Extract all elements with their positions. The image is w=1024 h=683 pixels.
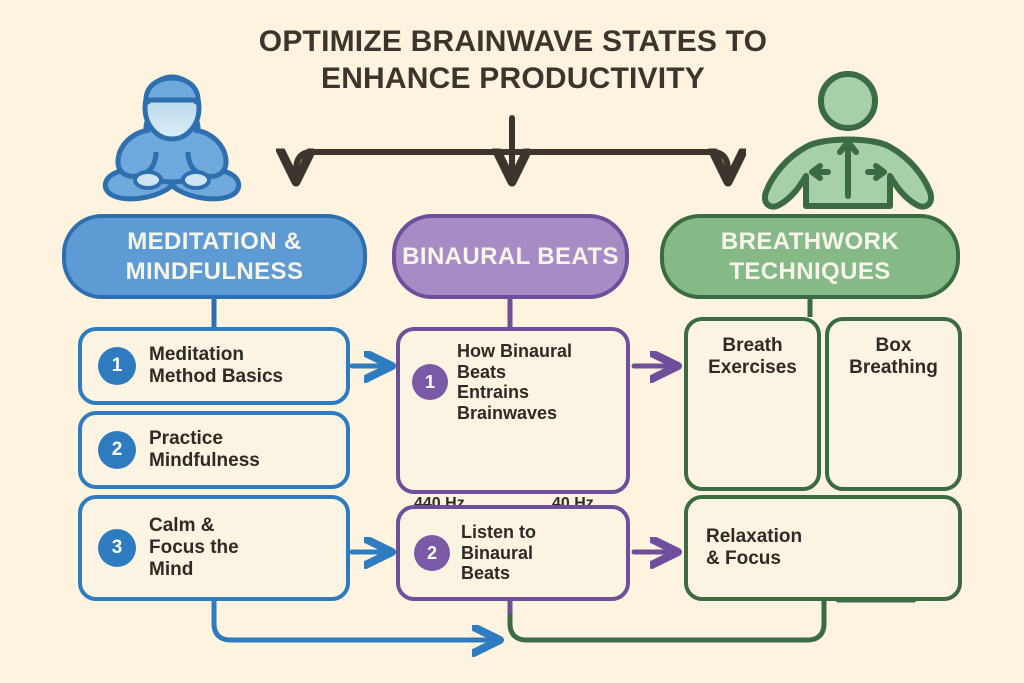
frequency-diagram: 440 Hz 480 Hz 40 Hz 40 Hz [400,423,626,490]
title-line-2: ENHANCE PRODUCTIVITY [188,61,838,98]
card-label: Box Breathing [849,335,938,379]
step-number-badge: 3 [98,529,136,567]
card-label-line-1: How Binaural Beats [457,341,618,382]
title-line-1: OPTIMIZE BRAINWAVE STATES TO [259,25,767,58]
column-header-binaural-label: BINAURAL BEATS [402,242,619,271]
card-label: Meditation Method Basics [149,344,283,388]
card-label-line-2: Exercises [708,357,797,379]
card-label-line-2: & Focus [706,548,802,570]
card-heading-row: 1 How Binaural Beats Entrains Brainwaves [400,331,626,423]
card-calm-focus-mind[interactable]: 3 Calm & Focus the Mind [78,495,350,601]
card-label-line-2: Mindfulness [149,450,260,472]
card-label-line-1: Meditation [149,344,283,366]
card-box-breathing[interactable]: Box Breathing [825,317,962,491]
card-breath-exercises[interactable]: Breath Exercises [684,317,821,491]
card-label-line-2: Entrains Brainwaves [457,382,618,423]
card-label: Breath Exercises [708,335,797,379]
card-meditation-method-basics[interactable]: 1 Meditation Method Basics [78,327,350,405]
step-number-badge: 2 [98,431,136,469]
step-number-badge: 2 [414,535,450,571]
column-header-breathwork[interactable]: BREATHWORK TECHNIQUES [660,214,960,299]
card-label-line-3: Mind [149,559,239,581]
card-practice-mindfulness[interactable]: 2 Practice Mindfulness [78,411,350,489]
column-header-breathwork-label: BREATHWORK TECHNIQUES [664,227,956,286]
card-label-line-1: Box [849,335,938,357]
card-relaxation-focus[interactable]: Relaxation & Focus [684,495,962,601]
card-label-line-1: Listen to [461,522,536,543]
page-title: OPTIMIZE BRAINWAVE STATES TO ENHANCE PRO… [188,24,838,98]
card-label: Calm & Focus the Mind [149,515,239,581]
card-label-line-2: Breathing [849,357,938,379]
bottom-feedback-connector [214,601,824,640]
card-label: Relaxation & Focus [706,526,802,570]
column-header-meditation[interactable]: MEDITATION & MINDFULNESS [62,214,367,299]
card-how-binaural-beats-entrains-brainwaves[interactable]: 1 How Binaural Beats Entrains Brainwaves… [396,327,630,494]
step-number-badge: 1 [98,347,136,385]
card-listen-to-binaural-beats[interactable]: 2 Listen to Binaural Beats [396,505,630,601]
column-header-meditation-label: MEDITATION & MINDFULNESS [66,227,363,286]
card-label: How Binaural Beats Entrains Brainwaves [457,341,618,423]
card-label: Listen to Binaural Beats [461,522,536,585]
card-label-line-1: Relaxation [706,526,802,548]
card-label-line-2: Focus the [149,537,239,559]
card-label-line-1: Practice [149,428,260,450]
card-label-line-2: Method Basics [149,366,283,388]
infographic-canvas: OPTIMIZE BRAINWAVE STATES TO ENHANCE PRO… [0,0,1024,683]
column-header-binaural[interactable]: BINAURAL BEATS [392,214,629,299]
step-number-badge: 1 [412,364,448,400]
card-label: Practice Mindfulness [149,428,260,472]
card-label-line-1: Breath [708,335,797,357]
card-label-line-3: Beats [461,563,536,584]
card-label-line-1: Calm & [149,515,239,537]
three-way-branch-arrow [296,118,728,176]
card-label-line-2: Binaural [461,543,536,564]
